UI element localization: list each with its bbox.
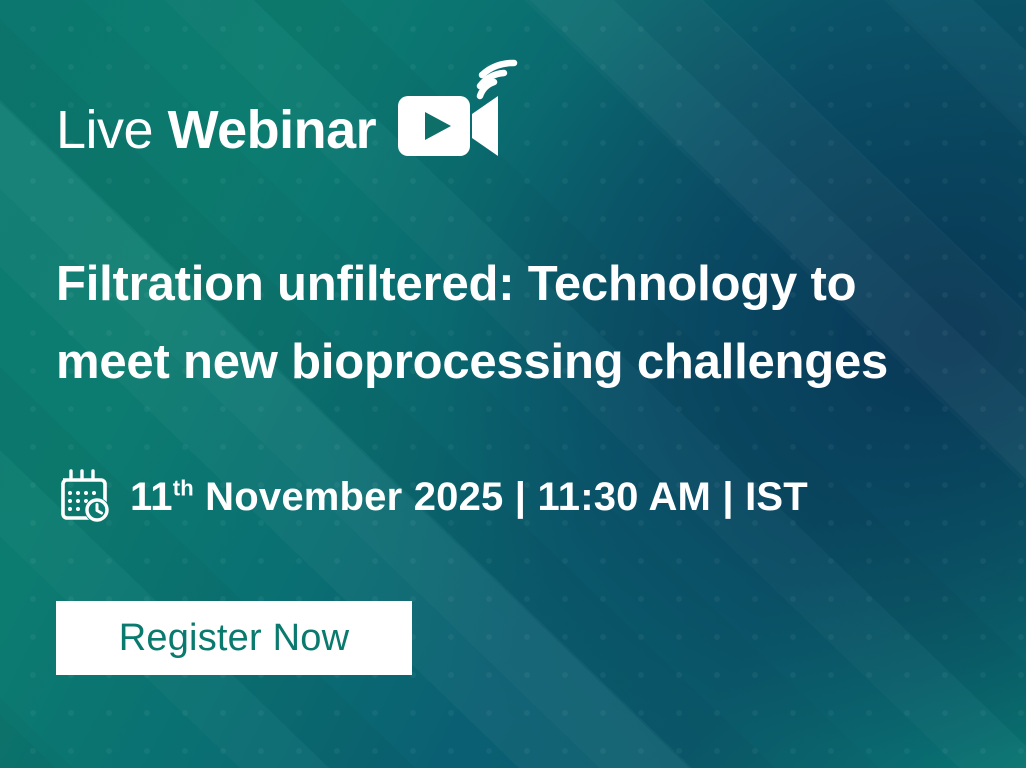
register-now-label: Register Now (119, 619, 349, 657)
schedule-row: 11th November 2025 | 11:30 AM | IST (56, 468, 808, 526)
schedule-day-number: 11 (130, 475, 173, 519)
calendar-clock-icon (56, 468, 114, 526)
eyebrow-text: Live Webinar (56, 103, 376, 157)
eyebrow-webinar-word: Webinar (168, 100, 377, 160)
schedule-rest: November 2025 | 11:30 AM | IST (194, 475, 808, 519)
banner-content: Live Webinar Filtration unfiltered: (0, 0, 1026, 768)
schedule-day-suffix: th (173, 476, 194, 501)
video-camera-broadcast-icon (394, 58, 524, 163)
webinar-title: Filtration unfiltered: Technology to mee… (56, 245, 966, 401)
eyebrow-row: Live Webinar (56, 58, 524, 157)
eyebrow-live-word: Live (56, 100, 153, 160)
schedule-text: 11th November 2025 | 11:30 AM | IST (130, 477, 808, 517)
webinar-promo-banner: Live Webinar Filtration unfiltered: (0, 0, 1026, 768)
register-now-button[interactable]: Register Now (56, 601, 412, 675)
